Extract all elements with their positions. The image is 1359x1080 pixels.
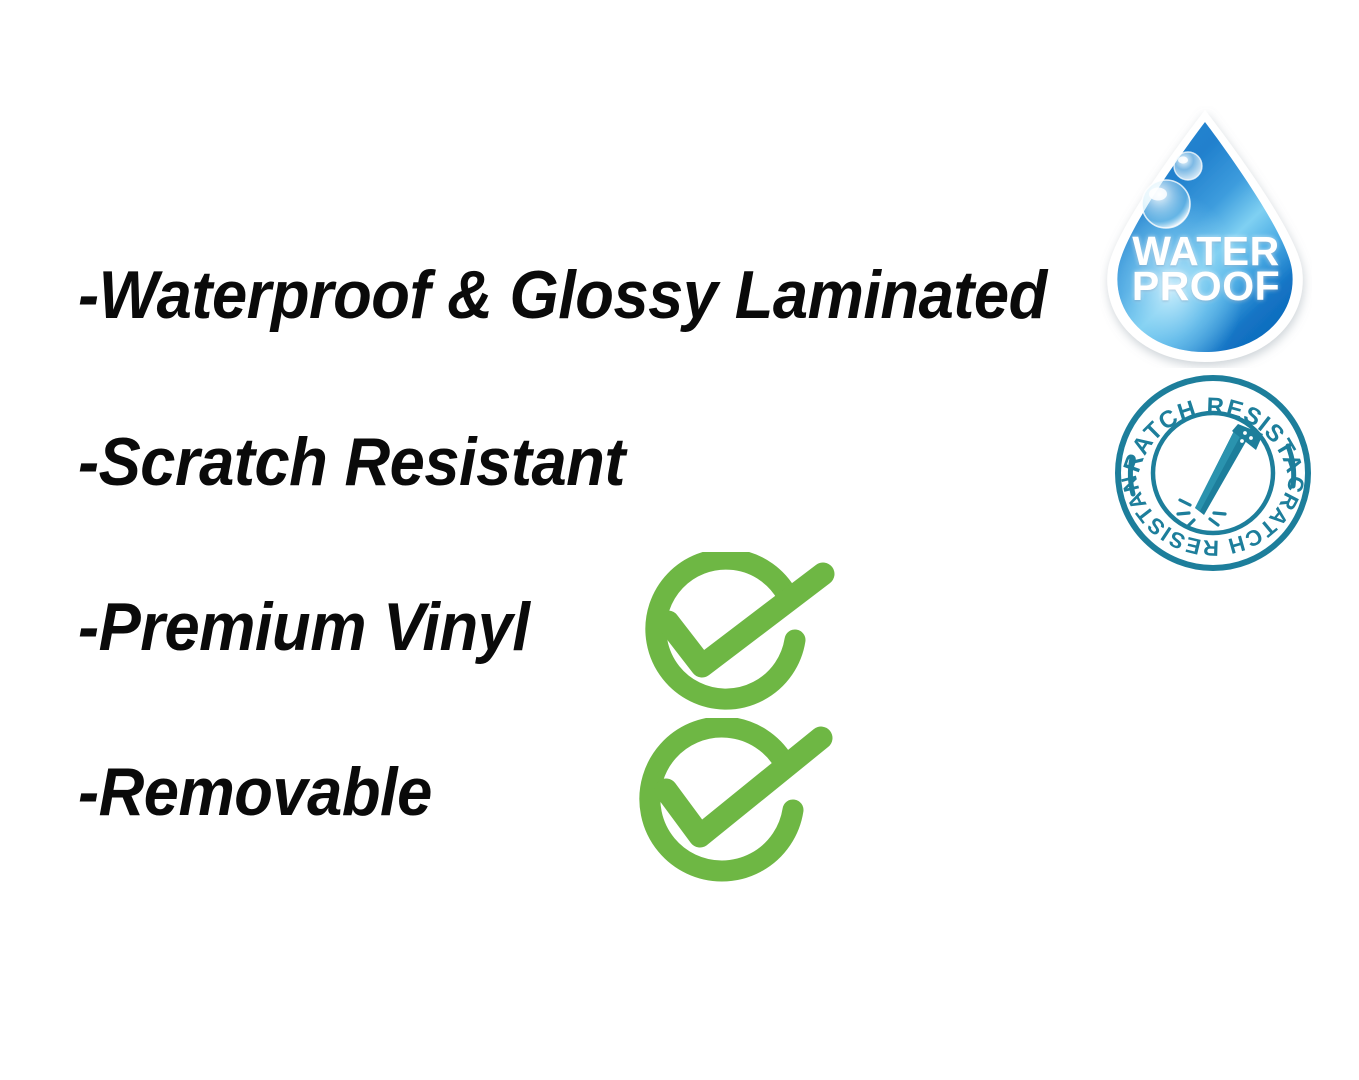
check-circle-icon <box>636 718 836 883</box>
bubble-highlight-small <box>1178 156 1188 163</box>
list-item: -Premium Vinyl <box>78 592 564 662</box>
bubble-large-icon <box>1142 180 1190 228</box>
waterproof-badge: WATER PROOF <box>1100 106 1312 368</box>
water-drop-icon <box>1100 106 1312 368</box>
feature-label-scratch-resistant: -Scratch Resistant <box>78 428 625 496</box>
list-item: -Scratch Resistant <box>78 427 666 497</box>
feature-list: -Waterproof & Glossy Laminated -Scratch … <box>0 0 1100 1080</box>
feature-graphic: -Waterproof & Glossy Laminated -Scratch … <box>0 0 1359 1080</box>
check-circle-icon <box>640 552 840 712</box>
feature-label-removable: -Removable <box>78 758 432 826</box>
scratch-resistant-text-label: SCRATCH RESISTANT <box>1314 374 1315 375</box>
list-item: -Waterproof & Glossy Laminated <box>78 260 1120 330</box>
bubble-small-icon <box>1174 152 1202 180</box>
bubble-highlight <box>1149 188 1167 201</box>
list-item: -Removable <box>78 757 458 827</box>
feature-label-waterproof-glossy-laminated: -Waterproof & Glossy Laminated <box>78 261 1047 329</box>
knife-icon <box>1178 424 1263 527</box>
scratch-resistant-seal-icon: SCRATCH RESISTANT SCRATCH RESISTANT <box>1112 374 1314 572</box>
droplet-shape <box>1107 110 1302 362</box>
feature-label-premium-vinyl: -Premium Vinyl <box>78 593 530 661</box>
check-badge-premium-vinyl <box>640 552 840 712</box>
check-badge-removable <box>636 718 836 883</box>
scratch-resistant-badge: SCRATCH RESISTANT SCRATCH RESISTANT <box>1112 374 1314 572</box>
seal-text-top: SCRATCH RESISTANT <box>1112 374 1308 477</box>
